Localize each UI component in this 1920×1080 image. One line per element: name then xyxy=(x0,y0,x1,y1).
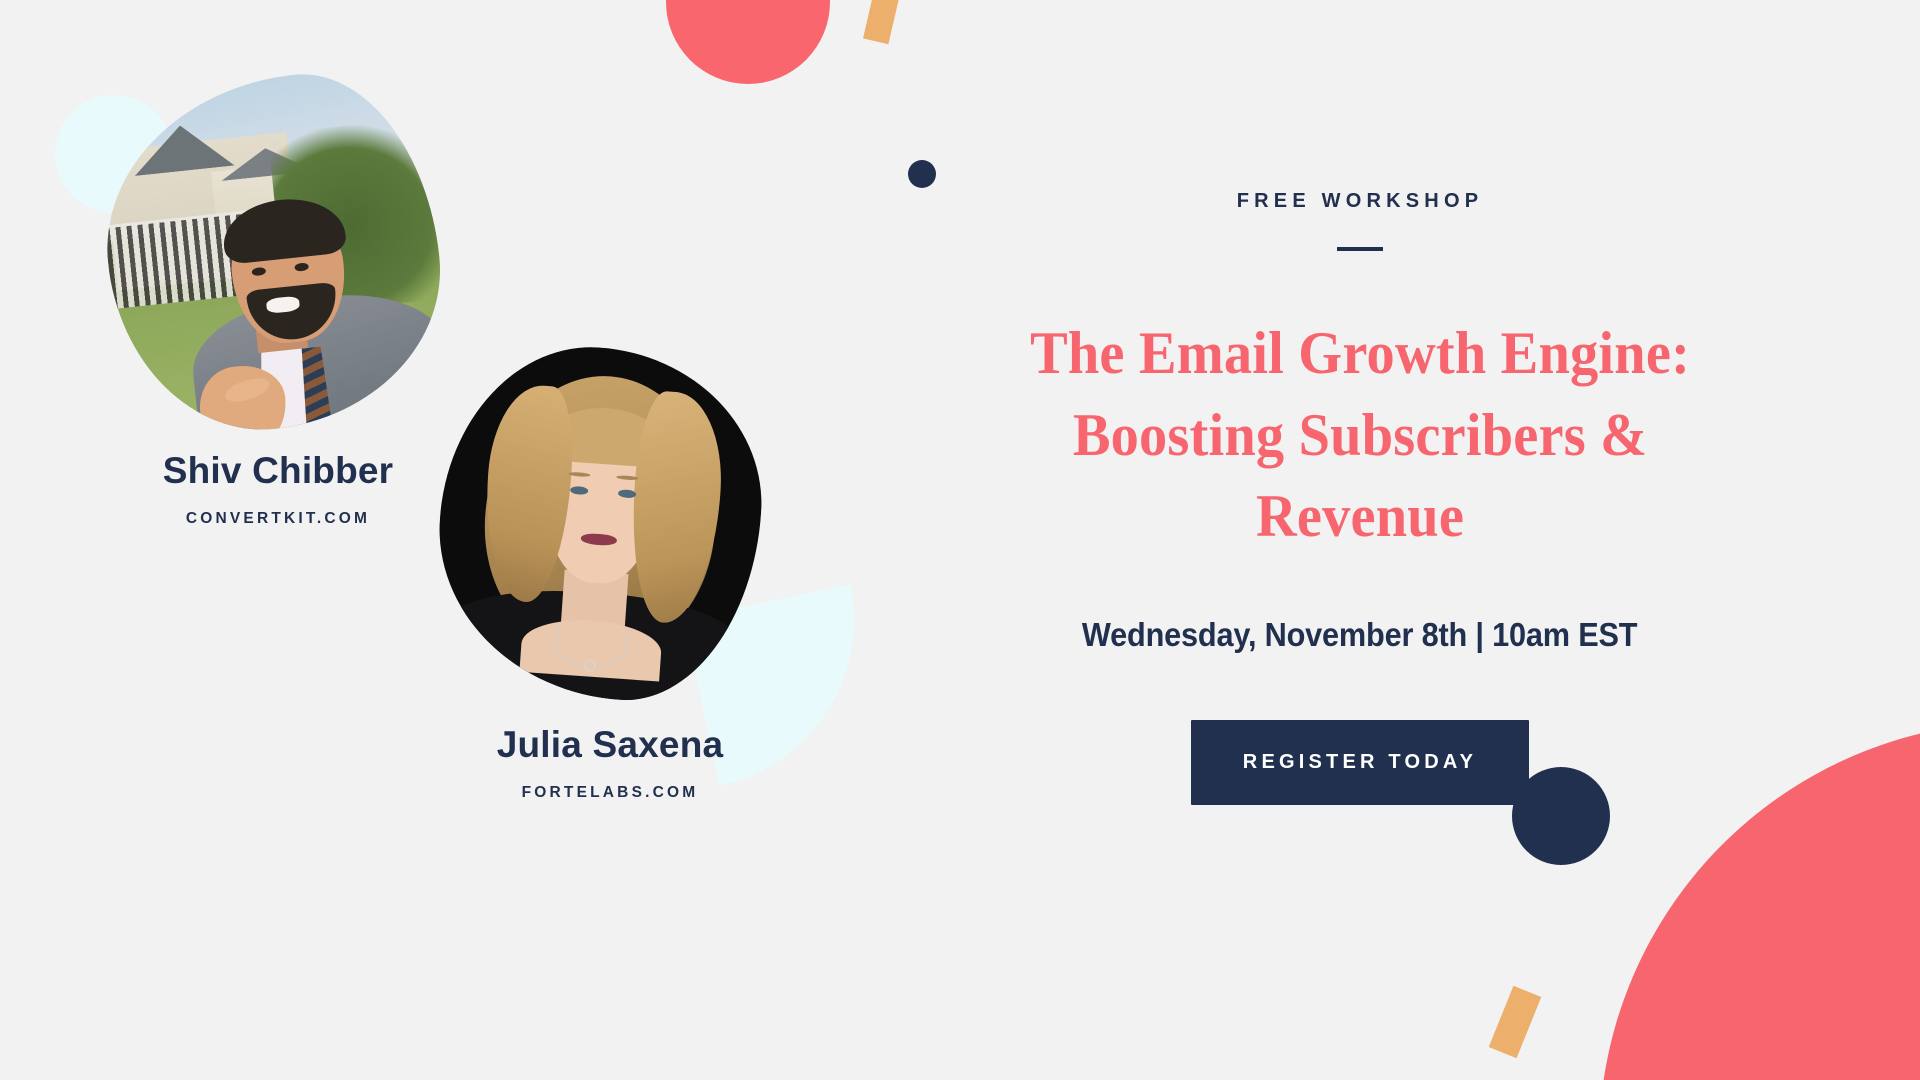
headline-line-2: Boosting Subscribers & xyxy=(1073,402,1647,468)
headline-line-1: The Email Growth Engine: xyxy=(1030,320,1690,386)
photo-man-portrait xyxy=(91,62,456,445)
eyebrow-label: FREE WORKSHOP xyxy=(1237,190,1484,213)
speaker-url-1[interactable]: CONVERTKIT.COM xyxy=(108,510,448,528)
eyebrow-divider xyxy=(1337,247,1383,251)
speaker-card-shiv-chibber: Shiv Chibber CONVERTKIT.COM xyxy=(108,78,448,528)
event-datetime: Wednesday, November 8th | 10am EST xyxy=(1082,616,1637,654)
page-title: The Email Growth Engine: Boosting Subscr… xyxy=(1030,313,1690,558)
speaker-photo-shiv-chibber xyxy=(91,62,456,445)
speaker-name-1: Shiv Chibber xyxy=(108,450,448,492)
speaker-url-2[interactable]: FORTELABS.COM xyxy=(440,784,780,802)
promo-content: FREE WORKSHOP The Email Growth Engine: B… xyxy=(960,0,1760,1080)
headline-line-3: Revenue xyxy=(1256,483,1464,549)
register-today-button[interactable]: REGISTER TODAY xyxy=(1191,720,1529,805)
speaker-name-2: Julia Saxena xyxy=(440,724,780,766)
speaker-photo-julia-saxena xyxy=(428,337,772,708)
promo-canvas: Shiv Chibber CONVERTKIT.COM xyxy=(0,0,1920,1080)
speakers-group: Shiv Chibber CONVERTKIT.COM xyxy=(0,0,940,1080)
speaker-card-julia-saxena: Julia Saxena FORTELABS.COM xyxy=(440,348,780,802)
photo-woman-portrait xyxy=(428,337,772,708)
